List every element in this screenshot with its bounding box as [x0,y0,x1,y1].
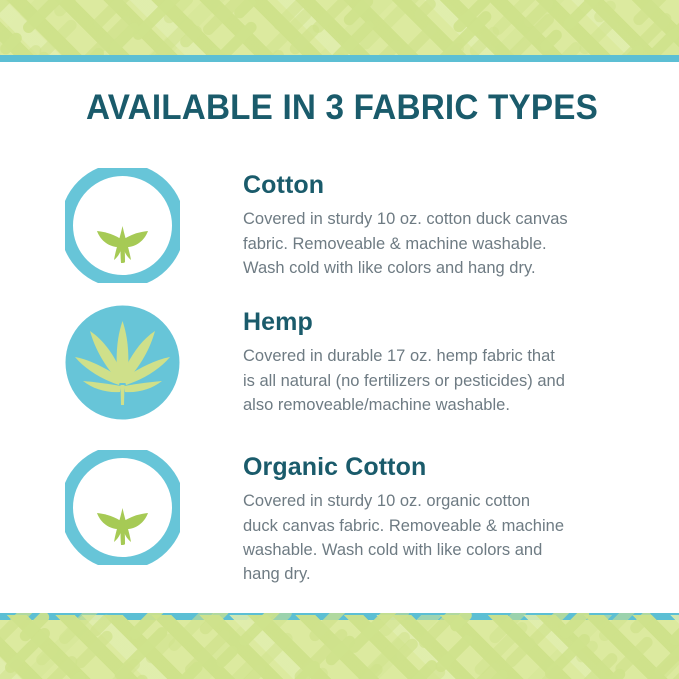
fabric-text-hemp: Hemp Covered in durable 17 oz. hemp fabr… [243,305,679,417]
cotton-boll-icon [65,450,180,565]
fabric-body-cotton: Covered in sturdy 10 oz. cotton duck can… [243,207,603,280]
top-decorative-band [0,0,679,62]
fabric-row-cotton: Cotton Covered in sturdy 10 oz. cotton d… [0,168,679,305]
fabric-heading-cotton: Cotton [243,172,679,198]
fabric-row-organic-cotton: Organic Cotton Covered in sturdy 10 oz. … [0,450,679,600]
top-band-dash-layer [0,0,679,62]
bottom-band-dash-layer [0,613,679,679]
infographic-page: AVAILABLE IN 3 FABRIC TYPES [0,0,679,679]
hemp-leaf-icon [65,305,180,420]
top-band-teal-rule [0,55,679,62]
cotton-boll-icon-graphic [65,168,180,283]
cotton-boll-icon [65,168,180,283]
fabric-body-organic-cotton: Covered in sturdy 10 oz. organic cottond… [243,489,603,586]
bottom-decorative-band [0,613,679,679]
fabric-text-organic-cotton: Organic Cotton Covered in sturdy 10 oz. … [243,450,679,586]
fabric-heading-hemp: Hemp [243,309,679,335]
fabric-row-hemp: Hemp Covered in durable 17 oz. hemp fabr… [0,305,679,450]
fabric-list: Cotton Covered in sturdy 10 oz. cotton d… [0,168,679,600]
page-title: AVAILABLE IN 3 FABRIC TYPES [86,88,598,128]
fabric-text-cotton: Cotton Covered in sturdy 10 oz. cotton d… [243,168,679,280]
fabric-heading-organic-cotton: Organic Cotton [243,454,679,480]
cotton-boll-icon-graphic [65,450,180,565]
fabric-body-hemp: Covered in durable 17 oz. hemp fabric th… [243,344,603,417]
hemp-leaf-icon-graphic [65,305,180,420]
